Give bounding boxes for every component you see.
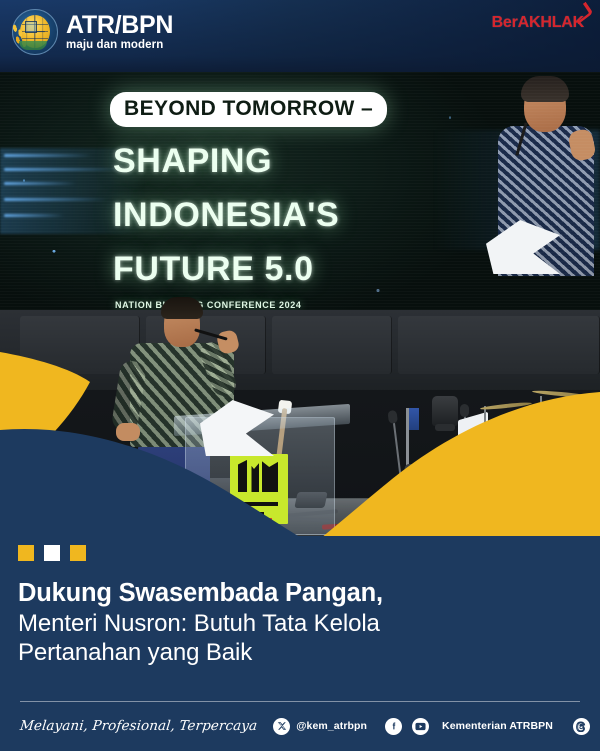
slide-line-1: SHAPING: [113, 142, 272, 181]
stage-back-wall: [0, 310, 600, 396]
slide-title-badge: BEYOND TOMORROW –: [110, 92, 387, 127]
event-photo: BEYOND TOMORROW – SHAPING INDONESIA'S FU…: [0, 60, 600, 590]
drum-kit: [470, 390, 600, 520]
brand-tagline: maju dan modern: [66, 40, 173, 52]
facebook-icon[interactable]: [385, 718, 402, 735]
podium-banner: [230, 454, 288, 524]
moving-light-1: [432, 396, 458, 426]
dot-yellow-1: [18, 545, 34, 561]
footer-social-row: Melayani, Profesional, Terpercaya @kem_a…: [20, 711, 588, 741]
slide-line-3: FUTURE 5.0: [113, 250, 314, 289]
footer: Melayani, Profesional, Terpercaya @kem_a…: [0, 693, 600, 751]
stage-monitor-2: [394, 464, 483, 510]
stage-cable-4: [344, 517, 374, 524]
flag: [409, 408, 419, 430]
led-screen: BEYOND TOMORROW – SHAPING INDONESIA'S FU…: [0, 60, 600, 322]
brand-name: ATR/BPN: [66, 13, 173, 38]
speaker-person: [110, 295, 270, 535]
berakhlak-label: BerAKHLAK: [492, 14, 584, 31]
poster-card: BEYOND TOMORROW – SHAPING INDONESIA'S FU…: [0, 0, 600, 751]
slide-line-2: INDONESIA'S: [113, 196, 339, 235]
headline-block: Dukung Swasembada Pangan, Menteri Nusron…: [18, 578, 582, 668]
x-handle: @kem_atrbpn: [296, 720, 367, 732]
youtube-icon[interactable]: [412, 718, 429, 735]
threads-icon[interactable]: [573, 718, 590, 735]
headline-line-1: Dukung Swasembada Pangan,: [18, 578, 582, 608]
led-live-feed-speaker: [490, 74, 598, 274]
berakhlak-logo: BerAKHLAK: [492, 14, 584, 32]
footer-tagline: Melayani, Profesional, Terpercaya: [19, 718, 258, 734]
header-bar: ATR/BPN maju dan modern BerAKHLAK: [0, 0, 600, 72]
headline-line-2: Menteri Nusron: Butuh Tata Kelola: [18, 609, 582, 638]
podium: [185, 417, 335, 535]
dot-yellow-2: [70, 545, 86, 561]
x-twitter-icon[interactable]: [273, 718, 290, 735]
brand-text: ATR/BPN maju dan modern: [66, 13, 173, 52]
footer-divider: [20, 701, 580, 702]
brand-logo-group[interactable]: ATR/BPN maju dan modern: [12, 9, 173, 55]
bottom-panel: Dukung Swasembada Pangan, Menteri Nusron…: [0, 536, 600, 751]
headline-line-3: Pertanahan yang Baik: [18, 638, 582, 667]
facebook-youtube-handle: Kementerian ATRBPN: [442, 720, 553, 732]
atr-bpn-globe-emblem-icon: [12, 9, 58, 55]
dot-white: [44, 545, 60, 561]
decorative-dots: [18, 545, 86, 561]
